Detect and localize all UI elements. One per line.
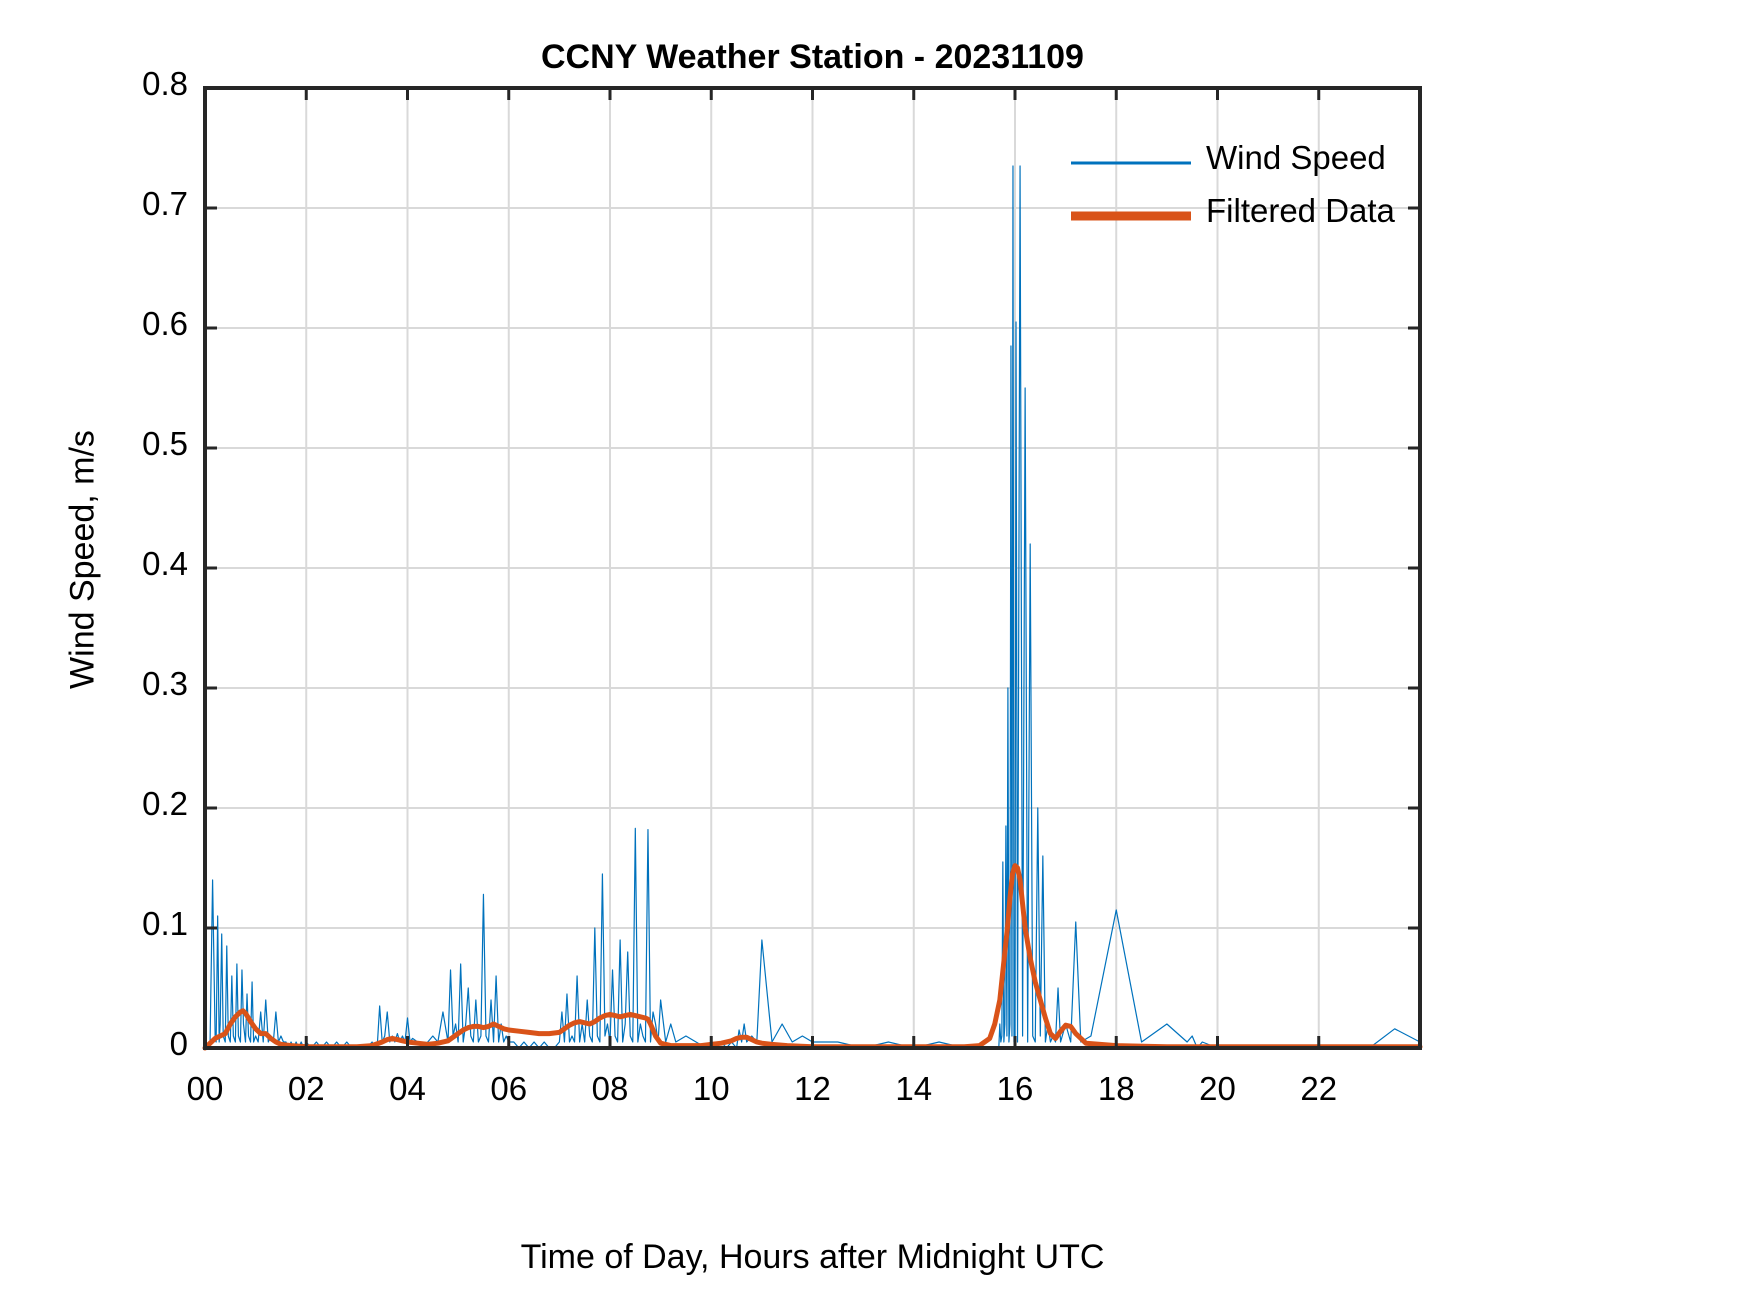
y-tick-label: 0.3 bbox=[20, 665, 188, 703]
y-tick-label: 0.2 bbox=[20, 785, 188, 823]
y-tick-label: 0.7 bbox=[20, 185, 188, 223]
chart-figure: CCNY Weather Station - 20231109 Wind Spe… bbox=[0, 0, 1750, 1313]
y-tick-label: 0.6 bbox=[20, 305, 188, 343]
legend-label-filtered-data: Filtered Data bbox=[1206, 192, 1395, 230]
x-axis-label: Time of Day, Hours after Midnight UTC bbox=[205, 1238, 1420, 1277]
y-tick-label: 0 bbox=[20, 1025, 188, 1063]
plot-canvas bbox=[0, 0, 1750, 1313]
y-tick-label: 0.8 bbox=[20, 65, 188, 103]
series-line-wind-speed bbox=[208, 166, 1420, 1048]
gridlines-group bbox=[205, 88, 1420, 1048]
legend-label-wind-speed: Wind Speed bbox=[1206, 139, 1386, 177]
y-tick-label: 0.5 bbox=[20, 425, 188, 463]
y-tick-label: 0.1 bbox=[20, 905, 188, 943]
x-tick-label: 22 bbox=[1259, 1070, 1379, 1108]
y-tick-label: 0.4 bbox=[20, 545, 188, 583]
